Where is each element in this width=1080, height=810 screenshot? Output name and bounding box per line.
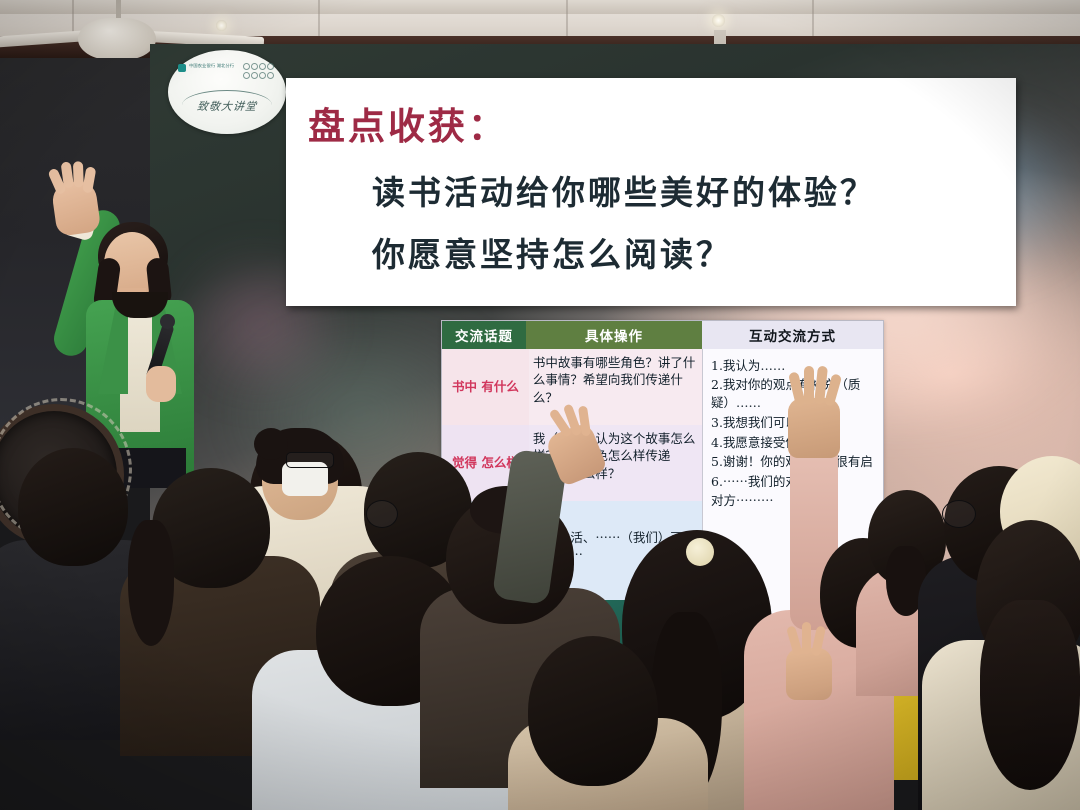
venue-logo-badge: 中国农业银行 湖北分行 致敬大讲堂 — [168, 50, 286, 134]
fan-blade — [0, 30, 86, 49]
bank-logo-text: 中国农业银行 湖北分行 — [189, 63, 234, 69]
table-header-operation: 具体操作 — [526, 321, 702, 349]
logo-calligraphy-text: 致敬大讲堂 — [167, 98, 287, 114]
slide-question-line-1: 读书活动给你哪些美好的体验？ — [372, 166, 876, 214]
cell-topic: 书中 有什么 — [442, 349, 529, 425]
fan-motor — [78, 18, 156, 60]
presenter-hand-holding-mic — [146, 366, 176, 402]
bank-logo-icon — [178, 64, 186, 72]
logo-dot-grid — [243, 63, 273, 79]
table-header-row: 交流话题 具体操作 互动交流方式 — [442, 321, 883, 349]
table-header-interaction: 互动交流方式 — [702, 321, 883, 349]
ceiling-spotlight — [712, 14, 725, 27]
photo-scene: 中国农业银行 湖北分行 致敬大讲堂 盘点收获： 读书活动给你哪些美好的体验？ 你… — [0, 0, 1080, 810]
slide-text-panel: 盘点收获： 读书活动给你哪些美好的体验？ 你愿意坚持怎么阅读？ — [286, 78, 1016, 306]
slide-title: 盘点收获： — [308, 96, 508, 150]
raised-hand — [51, 179, 102, 237]
microphone-head — [160, 314, 175, 329]
table-header-topic: 交流话题 — [442, 321, 526, 349]
slide-question-line-2: 你愿意坚持怎么阅读？ — [372, 228, 732, 276]
